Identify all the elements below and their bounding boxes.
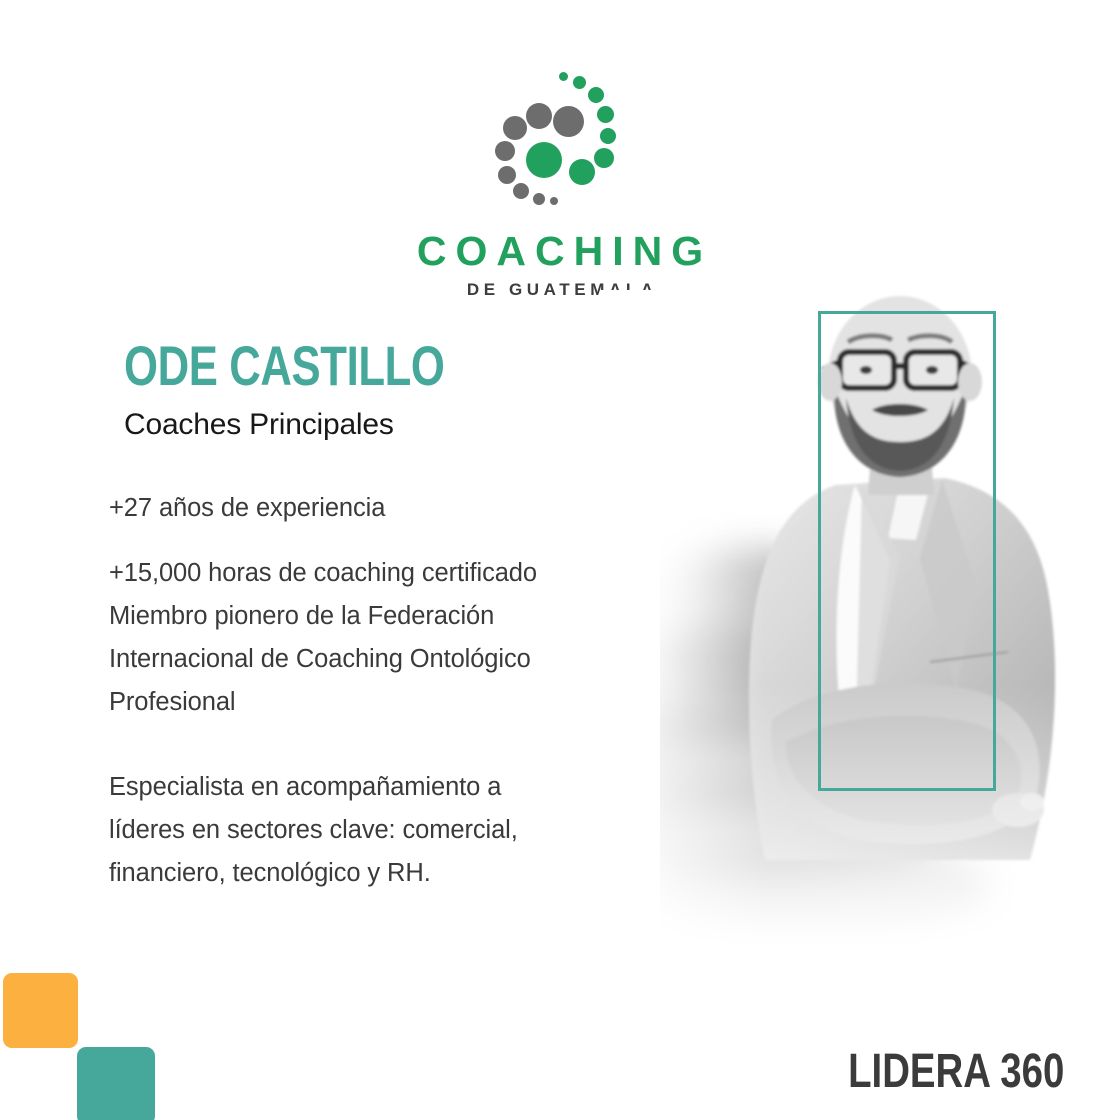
- green-dot-tiny-top: [559, 72, 568, 81]
- gray-dot-bottom-2: [533, 193, 545, 205]
- gray-dot-left-1: [503, 116, 527, 140]
- bio-line: Miembro pionero de la Federación: [109, 595, 537, 638]
- gray-dot-bottom-1: [513, 183, 529, 199]
- bio-line: Especialista en acompañamiento a: [109, 766, 518, 809]
- green-dot-center: [526, 142, 562, 178]
- bio-line: líderes en sectores clave: comercial,: [109, 809, 518, 852]
- bio-line: +15,000 horas de coaching certificado: [109, 552, 537, 595]
- green-dot-lower-right: [569, 159, 595, 185]
- page-title: ODE CASTILLO: [124, 338, 444, 394]
- green-dot-upper-right: [588, 87, 604, 103]
- bio-experience-line: +27 años de experiencia: [109, 487, 385, 530]
- logo-wordmark: COACHING: [408, 231, 712, 272]
- bio-line: Internacional de Coaching Ontológico: [109, 638, 537, 681]
- gray-dot-left-2: [495, 141, 515, 161]
- green-dot-right-3: [594, 148, 614, 168]
- bio-line: Profesional: [109, 681, 537, 724]
- gray-dot-left-3: [498, 166, 516, 184]
- role-subtitle: Coaches Principales: [124, 410, 394, 440]
- bio-credentials-block: +15,000 horas de coaching certificado Mi…: [109, 552, 537, 724]
- green-dot-right-2: [600, 128, 616, 144]
- gray-dot-bottom-tiny: [550, 197, 558, 205]
- gray-dot-upper-mid: [526, 103, 552, 129]
- bio-specialty-block: Especialista en acompañamiento a líderes…: [109, 766, 518, 895]
- brand-logo: COACHING DE GUATEMALA: [0, 70, 1120, 298]
- portrait-accent-frame: [818, 311, 996, 791]
- decor-square-orange: [3, 973, 78, 1048]
- decor-square-teal: [77, 1047, 155, 1120]
- bio-line: financiero, tecnológico y RH.: [109, 852, 518, 895]
- coach-profile-card: COACHING DE GUATEMALA: [0, 0, 1120, 1120]
- green-dot-small-top: [573, 76, 586, 89]
- green-dot-right-1: [597, 106, 614, 123]
- gray-dot-large-top: [553, 106, 584, 137]
- coaching-spiral-dots-icon: [490, 70, 630, 215]
- footer-brand-lockup: LIDERA 360: [848, 1048, 1064, 1096]
